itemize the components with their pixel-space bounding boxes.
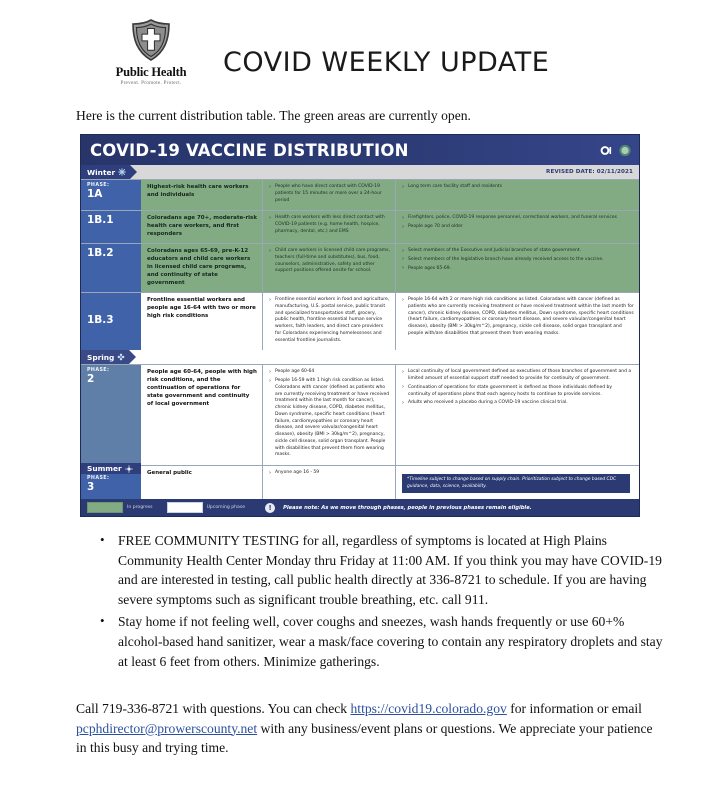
season-strip-spring: Spring — [81, 350, 639, 364]
detail-cell-b: Child care workers in licensed child car… — [263, 244, 396, 292]
info-icon: ! — [265, 503, 275, 513]
detail-cell-b: People age 60-64 People 16-59 with 1 hig… — [263, 365, 396, 465]
phase-cell: 1B.1 — [81, 211, 141, 243]
list-item: Continuation of operations for state gov… — [402, 385, 634, 399]
phase-cell: 1B.3 — [81, 293, 141, 350]
phase-number: 1B.3 — [87, 296, 141, 327]
page-title: COVID WEEKLY UPDATE — [207, 47, 549, 92]
phase-number: 2 — [87, 373, 141, 386]
group-cell: Coloradans ages 65-69, pre-K-12 educator… — [141, 244, 263, 292]
phase-number: 1A — [87, 188, 141, 201]
group-label: People age 60-64, people with high risk … — [147, 369, 257, 409]
detail-cell-c: Local continuity of local government def… — [396, 365, 639, 465]
group-label: General public — [147, 470, 257, 478]
phase-cell: 1B.2 — [81, 244, 141, 292]
group-cell: General public — [141, 466, 263, 499]
list-item: Select members of the Executive and Judi… — [402, 248, 634, 255]
flower-icon — [117, 353, 125, 361]
detail-cell-b: Health care workers with less direct con… — [263, 211, 396, 243]
detail-cell-c: Select members of the Executive and Judi… — [396, 244, 639, 292]
shield-cross-icon — [130, 19, 172, 66]
phase-number: 1B.2 — [87, 247, 141, 260]
list-item: Long term care facility staff and reside… — [402, 184, 634, 191]
table-row: Summer PHASE: 3 General public Anyone ag… — [81, 465, 639, 499]
season-tab-spring: Spring — [81, 350, 129, 364]
revised-date: REVISED DATE: 02/11/2021 — [546, 169, 639, 175]
detail-cell-c: Long term care facility staff and reside… — [396, 180, 639, 210]
list-item: People 16-59 with 1 high risk condition … — [269, 378, 390, 459]
phase-number: 1B.1 — [87, 214, 141, 227]
list-item: Child care workers in licensed child car… — [269, 248, 390, 275]
phase-word: PHASE: — [87, 368, 141, 373]
list-item: FREE COMMUNITY TESTING for all, regardle… — [118, 531, 667, 609]
group-label: Coloradans ages 65-69, pre-K-12 educator… — [147, 248, 257, 288]
legend-swatch-upcoming — [167, 502, 203, 513]
phase-number: 3 — [87, 481, 141, 494]
snowflake-icon — [118, 168, 126, 176]
list-item: Frontline essential workers in food and … — [269, 297, 390, 344]
closing-paragraph: Call 719-336-8721 with questions. You ca… — [0, 685, 701, 759]
season-label-spring: Spring — [87, 353, 114, 362]
detail-cell-b: Anyone age 16 - 59 — [263, 466, 396, 499]
flyer-legend: In progress Upcoming phase ! Please note… — [81, 499, 639, 516]
public-health-logo: Public Health Prevent. Promote. Protect. — [95, 19, 207, 92]
group-label: Highest-risk health care workers and ind… — [147, 184, 257, 200]
flyer-title-bar: COVID-19 VACCINE DISTRIBUTION — [81, 135, 639, 165]
list-item: Select members of the legislative branch… — [402, 257, 634, 264]
group-cell: Frontline essential workers and people a… — [141, 293, 263, 350]
closing-text-2: for information or email — [507, 701, 642, 716]
legend-swatch-in-progress — [87, 502, 123, 513]
phase-cell: Summer PHASE: 3 — [81, 466, 141, 499]
vaccine-distribution-flyer: COVID-19 VACCINE DISTRIBUTION Winter — [80, 134, 640, 517]
logo-tagline: Prevent. Promote. Protect. — [120, 80, 181, 86]
phase-word: PHASE: — [87, 183, 141, 188]
legend-note: Please note: As we move through phases, … — [283, 505, 532, 511]
list-item: People who have direct contact with COVI… — [269, 184, 390, 204]
email-link[interactable]: pcphdirector@prowerscounty.net — [76, 721, 257, 736]
group-label: Coloradans age 70+, moderate-risk health… — [147, 215, 257, 239]
table-row: 1B.1 Coloradans age 70+, moderate-risk h… — [81, 210, 639, 243]
detail-cell-c: *Timeline subject to change based on sup… — [396, 466, 639, 499]
logo-wordmark: Public Health — [116, 66, 187, 79]
season-tab-summer: Summer — [81, 463, 141, 474]
guidance-bullet-list: FREE COMMUNITY TESTING for all, regardle… — [0, 531, 701, 671]
phase-word: PHASE: — [87, 476, 141, 481]
group-cell: Coloradans age 70+, moderate-risk health… — [141, 211, 263, 243]
list-item: People age 70 and older — [402, 224, 634, 231]
covid19-colorado-link[interactable]: https://covid19.colorado.gov — [351, 701, 507, 716]
state-seal-icon — [618, 144, 632, 157]
phase-cell: PHASE: 2 — [81, 365, 141, 465]
legend-label-upcoming: Upcoming phase — [207, 505, 246, 510]
list-item: Health care workers with less direct con… — [269, 215, 390, 235]
group-cell: Highest-risk health care workers and ind… — [141, 180, 263, 210]
sun-icon — [125, 465, 133, 473]
group-cell: People age 60-64, people with high risk … — [141, 365, 263, 465]
table-row: 1B.2 Coloradans ages 65-69, pre-K-12 edu… — [81, 243, 639, 292]
list-item: People ages 65-69. — [402, 266, 634, 273]
table-row: PHASE: 1A Highest-risk health care worke… — [81, 179, 639, 210]
table-row: 1B.3 Frontline essential workers and peo… — [81, 292, 639, 350]
table-row: PHASE: 2 People age 60-64, people with h… — [81, 364, 639, 465]
detail-cell-b: Frontline essential workers in food and … — [263, 293, 396, 350]
flyer-title: COVID-19 VACCINE DISTRIBUTION — [90, 141, 409, 160]
agency-logos — [600, 144, 632, 157]
intro-paragraph: Here is the current distribution table. … — [0, 92, 701, 134]
list-item: Stay home if not feeling well, cover cou… — [118, 612, 667, 671]
list-item: Firefighters, police, COVID-19 response … — [402, 215, 634, 222]
list-item: People 16-64 with 2 or more high risk co… — [402, 297, 634, 338]
list-item: Anyone age 16 - 59 — [269, 470, 390, 477]
phase-cell: PHASE: 1A — [81, 180, 141, 210]
list-item: Local continuity of local government def… — [402, 369, 634, 383]
season-label-summer: Summer — [87, 464, 122, 473]
group-label: Frontline essential workers and people a… — [147, 297, 257, 321]
season-label-winter: Winter — [87, 168, 115, 177]
detail-cell-c: People 16-64 with 2 or more high risk co… — [396, 293, 639, 350]
season-tab-winter: Winter — [81, 165, 130, 179]
cdc-mark-icon — [600, 144, 616, 157]
list-item: Adults who received a placebo during a C… — [402, 400, 634, 407]
document-header: Public Health Prevent. Promote. Protect.… — [0, 0, 701, 92]
detail-cell-c: Firefighters, police, COVID-19 response … — [396, 211, 639, 243]
legend-label-in-progress: In progress — [127, 505, 153, 510]
closing-text-1: Call 719-336-8721 with questions. You ca… — [76, 701, 351, 716]
timeline-footnote: *Timeline subject to change based on sup… — [402, 474, 630, 493]
season-strip-winter: Winter REVISED DATE: 02/11/2021 — [81, 165, 639, 179]
detail-cell-b: People who have direct contact with COVI… — [263, 180, 396, 210]
list-item: People age 60-64 — [269, 369, 390, 376]
